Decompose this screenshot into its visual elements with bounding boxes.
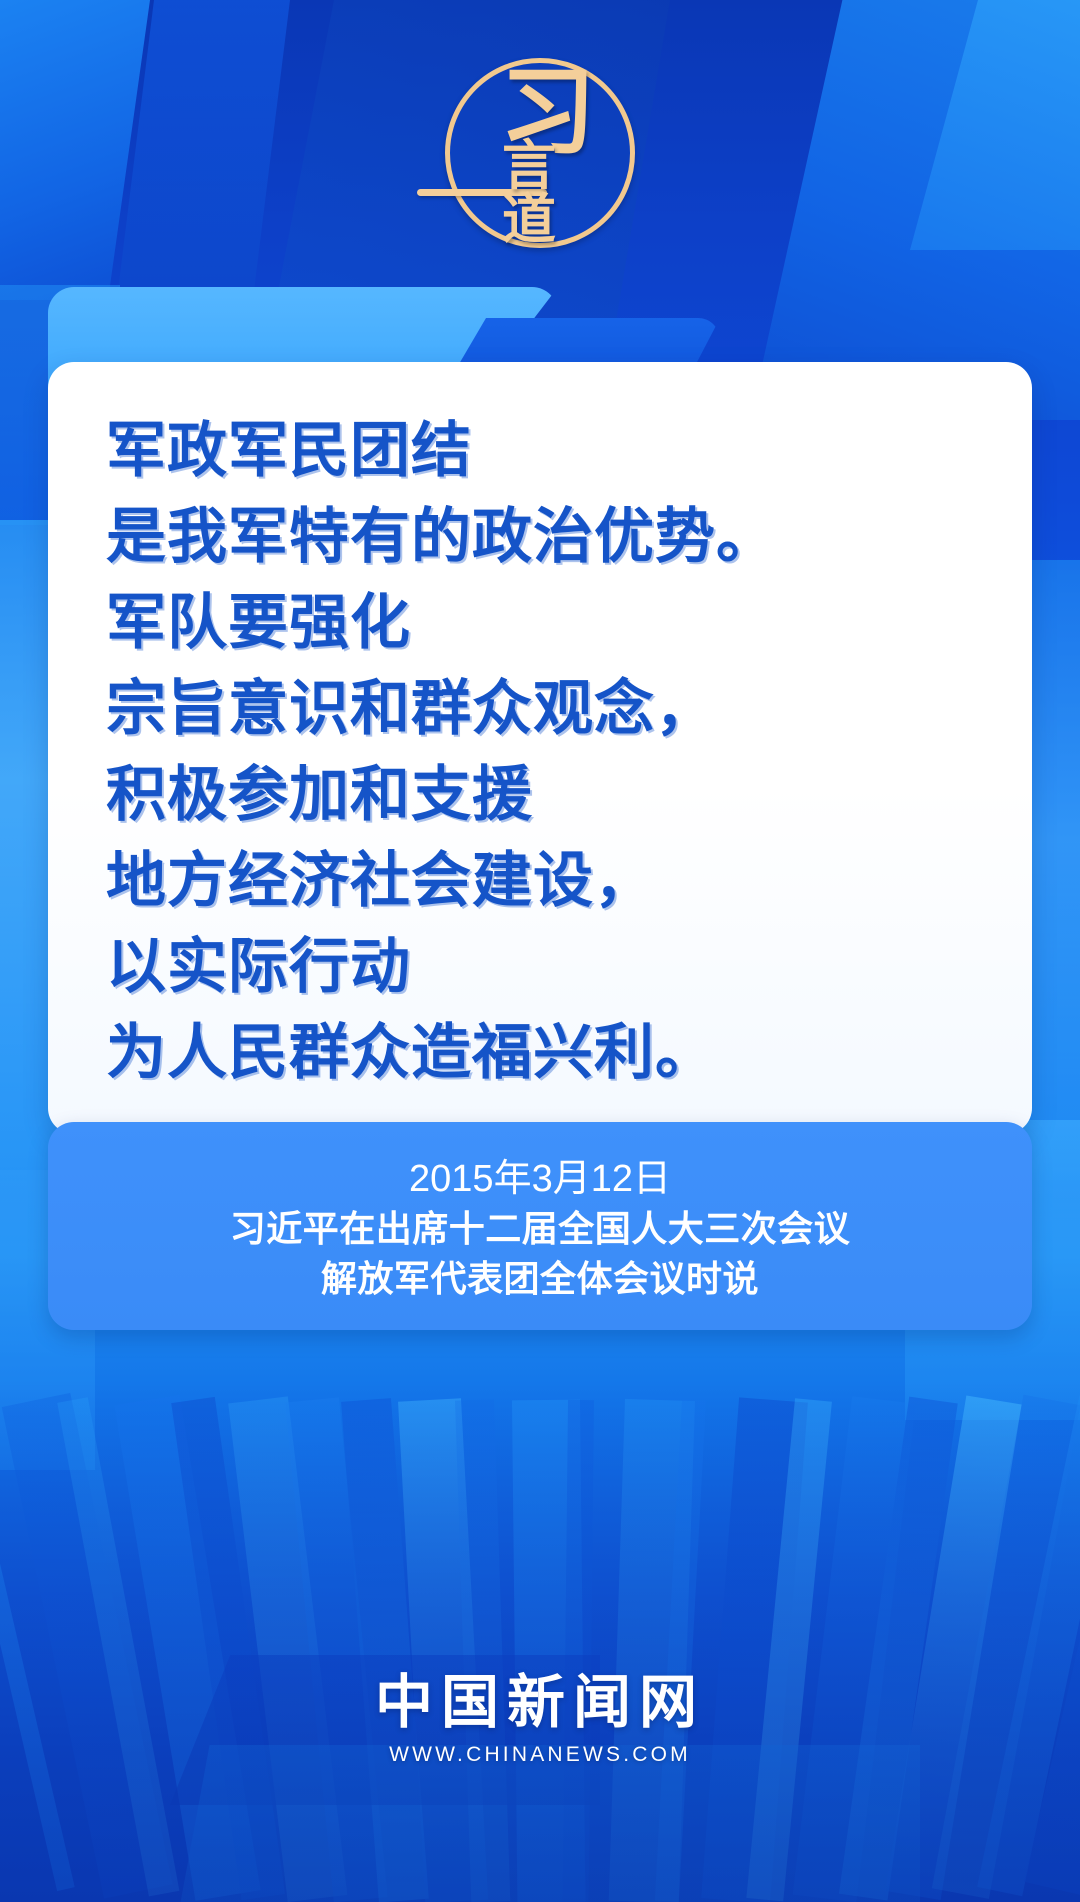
attribution-line-2: 解放军代表团全体会议时说 <box>321 1254 759 1304</box>
attribution-panel: 2015年3月12日 习近平在出席十二届全国人大三次会议 解放军代表团全体会议时… <box>48 1122 1032 1330</box>
bg-ray <box>978 1395 1080 1896</box>
bg-bottom-polygon-2 <box>180 1745 920 1902</box>
xiyandao-logo: 习 言道 <box>445 58 635 248</box>
bg-ray <box>341 1398 429 1902</box>
quote-line: 军政军民团结 <box>106 408 1002 494</box>
bg-facet-top-right-2 <box>910 0 1080 250</box>
bg-ray <box>455 1399 510 1902</box>
footer-url: WWW.CHINANEWS.COM <box>0 1743 1080 1767</box>
bg-ray <box>747 1398 832 1901</box>
bg-ray <box>0 1398 75 1891</box>
bg-ray <box>1 1393 171 1899</box>
quote-line: 积极参加和支援 <box>106 752 1002 838</box>
bg-ray <box>228 1396 347 1902</box>
bg-ray <box>701 1397 807 1902</box>
attribution-line-1: 习近平在出席十二届全国人大三次会议 <box>230 1204 851 1254</box>
bg-ray <box>171 1397 285 1900</box>
bg-ray <box>931 1395 1080 1899</box>
bg-ray <box>398 1398 488 1902</box>
quote-line: 军队要强化 <box>106 580 1002 666</box>
bg-perspective-rays <box>0 1400 1080 1902</box>
quote-line: 是我军特有的政治优势。 <box>106 494 1002 580</box>
poster-root: 习 言道 军政军民团结 是我军特有的政治优势。 军队要强化 宗旨意识和群众观念，… <box>0 0 1080 1902</box>
bg-bottom-vignette <box>0 1382 1080 1902</box>
bg-ray <box>1024 1393 1080 1897</box>
bg-ray <box>655 1399 706 1902</box>
quote-line: 以实际行动 <box>106 924 1002 1010</box>
bg-facet-top-right <box>750 0 1080 420</box>
quote-card: 军政军民团结 是我军特有的政治优势。 军队要强化 宗旨意识和群众观念， 积极参加… <box>48 362 1032 1134</box>
logo-chars-yandao: 言道 <box>502 138 597 246</box>
attribution-date: 2015年3月12日 <box>409 1154 671 1204</box>
quote-text-block: 军政军民团结 是我军特有的政治优势。 军队要强化 宗旨意识和群众观念， 积极参加… <box>106 408 1002 1096</box>
bg-ray <box>512 1400 585 1902</box>
footer-brand-name: 中国新闻网 <box>0 1672 1080 1733</box>
bg-ray <box>885 1395 1021 1899</box>
quote-line: 宗旨意识和群众观念， <box>106 666 1002 752</box>
bg-ray <box>115 1395 261 1901</box>
quote-line: 为人民群众造福兴利。 <box>106 1010 1002 1096</box>
bg-ray <box>285 1397 388 1902</box>
bg-ray <box>609 1399 695 1902</box>
bg-ray <box>563 1400 594 1902</box>
bg-ray <box>793 1396 916 1902</box>
bg-ray <box>58 1397 181 1896</box>
bg-facet-top-left <box>0 0 150 300</box>
bg-ray <box>839 1397 957 1901</box>
site-footer: 中国新闻网 WWW.CHINANEWS.COM <box>0 1672 1080 1767</box>
quote-line: 地方经济社会建设， <box>106 838 1002 924</box>
